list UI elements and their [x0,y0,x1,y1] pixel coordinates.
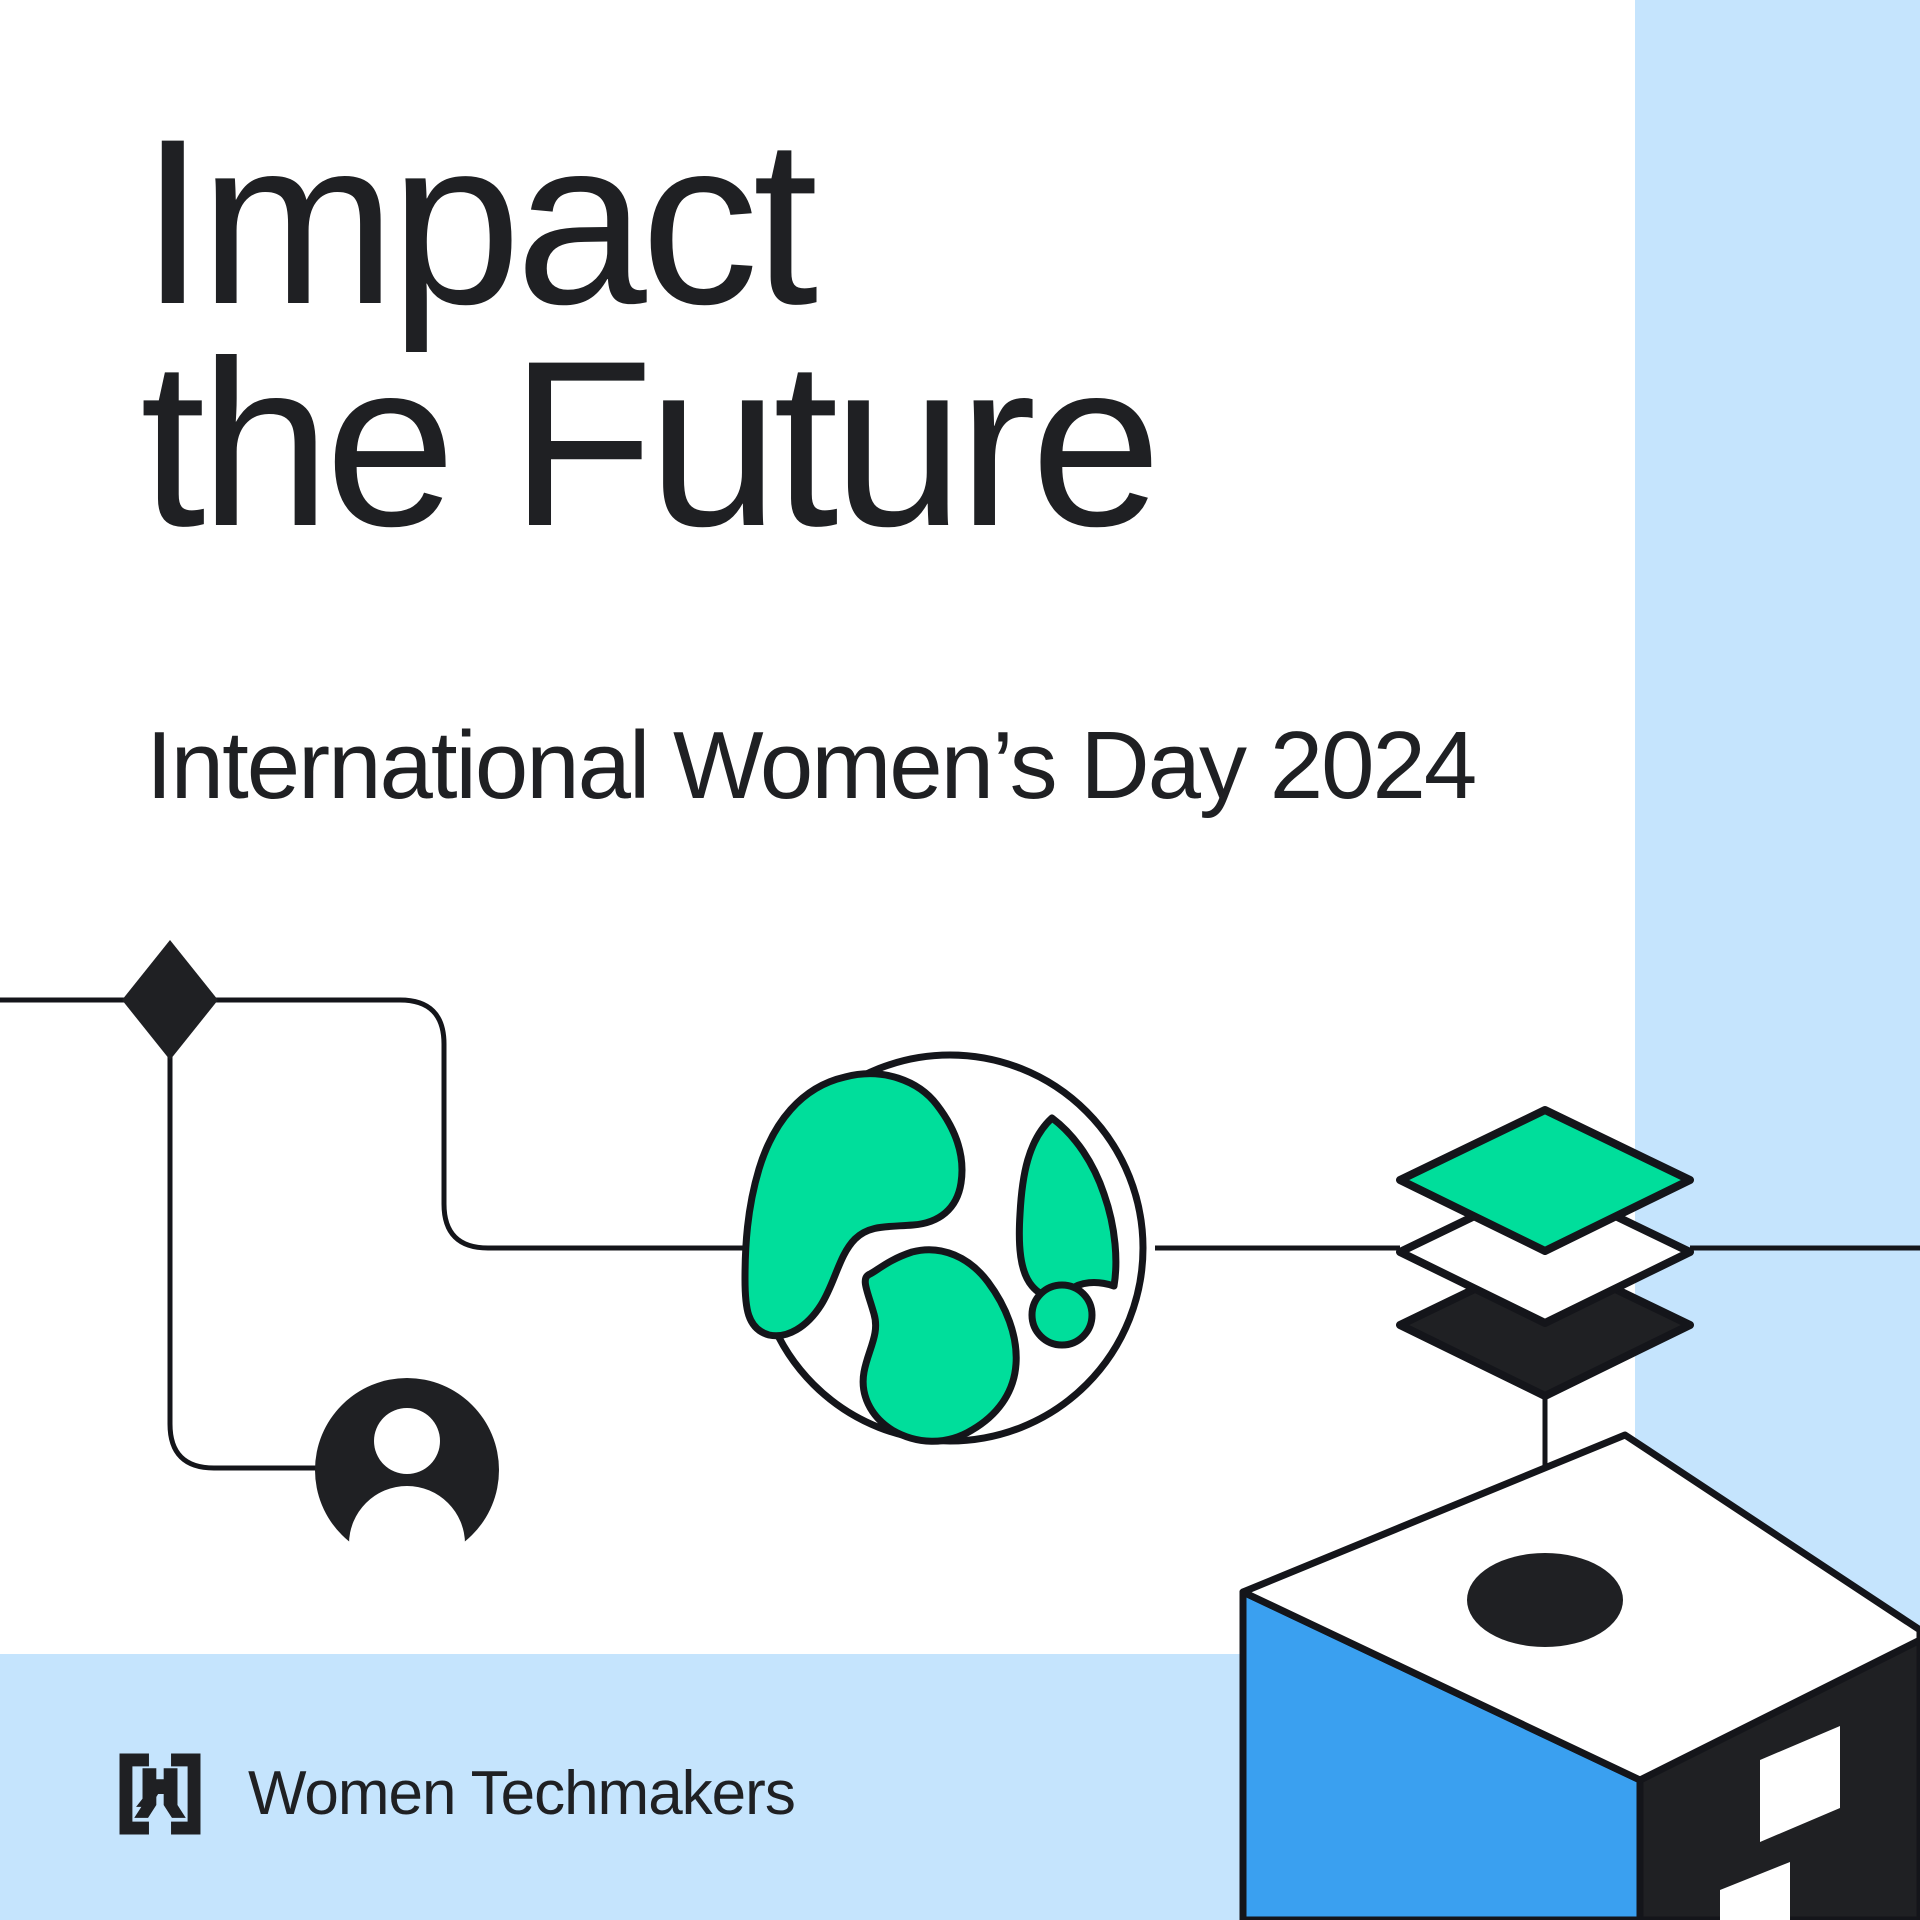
brand-lockup: Women Techmakers [114,1748,795,1840]
globe-icon [745,1055,1143,1441]
connector-diamond-to-globe [200,1000,745,1248]
poster-canvas: Impact the Future International Women’s … [0,0,1920,1920]
page-title: Impact the Future [140,112,1560,556]
stacked-layers-icon [1400,1110,1690,1396]
person-avatar-icon [315,1378,499,1565]
brand-name: Women Techmakers [248,1763,795,1825]
isometric-cube-icon [1243,1435,1920,1920]
wtm-bracket-w-logo-icon [114,1748,206,1840]
page-subtitle: International Women’s Day 2024 [146,718,1475,814]
decision-diamond-icon [122,940,218,1060]
cube-top-dot-icon [1467,1553,1623,1647]
